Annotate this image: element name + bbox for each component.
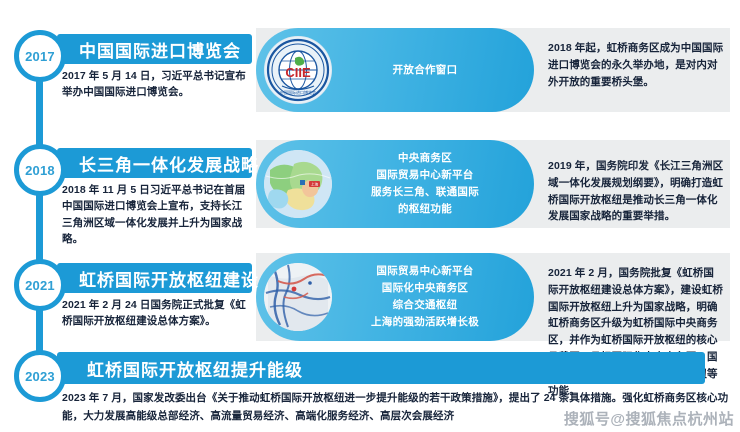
year-label-2021: 2021 xyxy=(25,279,55,292)
year-label-2017: 2017 xyxy=(25,50,55,63)
left-description-2021: 2021 年 2 月 24 日国务院正式批复《虹桥国际开放枢纽建设总体方案》。 xyxy=(62,297,252,330)
highlight-pill-2017: CIIE 中国国际进口博览会 开放合作窗口 xyxy=(256,28,534,112)
left-description-2018: 2018 年 11 月 5 日习近平总书记在首届中国国际进口博览会上宣布，支持长… xyxy=(62,182,252,247)
timeline-row-2018: 上海 中央商务区 国际贸易中心新平台 服务长三角、联通国际 的枢纽功能 2019… xyxy=(0,130,740,234)
svg-text:上海: 上海 xyxy=(311,182,319,187)
header-bar-2017[interactable]: 中国国际进口博览会 xyxy=(57,34,252,64)
header-title-2021: 虹桥国际开放枢纽建设 xyxy=(57,266,273,291)
bottom-description-2023: 2023 年 7 月，国家发改委出台《关于推动虹桥国际开放枢纽进一步提升能级的若… xyxy=(62,390,730,426)
svg-text:中国国际进口博览会: 中国国际进口博览会 xyxy=(280,89,316,95)
pill-label-2017: 开放合作窗口 xyxy=(332,62,534,79)
header-title-2023: 虹桥国际开放枢纽提升能级 xyxy=(57,356,317,381)
pill-label-2018: 中央商务区 国际贸易中心新平台 服务长三角、联通国际 的枢纽功能 xyxy=(332,150,534,217)
infographic-canvas: CIIE 中国国际进口博览会 开放合作窗口 2018 年起，虹桥商务区成为中国国… xyxy=(0,0,740,432)
header-title-2017: 中国国际进口博览会 xyxy=(57,37,255,62)
header-title-2018: 长三角一体化发展战略 xyxy=(57,151,273,176)
header-bar-2018[interactable]: 长三角一体化发展战略 xyxy=(57,148,252,178)
timeline-row-2023: 虹桥国际开放枢纽提升能级 2023 2023 年 7 月，国家发改委出台《关于推… xyxy=(0,350,740,432)
yangtze-delta-map-icon: 上海 xyxy=(264,150,332,218)
ciie-logo-icon: CIIE 中国国际进口博览会 xyxy=(264,36,332,104)
timeline-row-2021: 国际贸易中心新平台 国际化中央商务区 综合交通枢纽 上海的强劲活跃增长极 202… xyxy=(0,245,740,349)
timeline-row-2017: CIIE 中国国际进口博览会 开放合作窗口 2018 年起，虹桥商务区成为中国国… xyxy=(0,16,740,120)
year-bubble-2021[interactable]: 2021 xyxy=(14,259,66,311)
year-bubble-2017[interactable]: 2017 xyxy=(14,30,66,82)
year-bubble-2023[interactable]: 2023 xyxy=(14,350,66,402)
right-description-2018: 2019 年，国务院印发《长江三角洲区域一体化发展规划纲要》，明确打造虹桥国际开… xyxy=(548,158,724,225)
year-label-2023: 2023 xyxy=(25,370,55,383)
highlight-pill-2018: 上海 中央商务区 国际贸易中心新平台 服务长三角、联通国际 的枢纽功能 xyxy=(256,140,534,228)
header-bar-2023[interactable]: 虹桥国际开放枢纽提升能级 xyxy=(57,352,705,384)
highlight-pill-2021: 国际贸易中心新平台 国际化中央商务区 综合交通枢纽 上海的强劲活跃增长极 xyxy=(256,253,534,341)
header-bar-2021[interactable]: 虹桥国际开放枢纽建设 xyxy=(57,263,252,293)
right-description-2017: 2018 年起，虹桥商务区成为中国国际进口博览会的永久举办地，是对内对外开放的重… xyxy=(548,40,724,90)
transport-hub-map-icon xyxy=(264,263,332,331)
year-label-2018: 2018 xyxy=(25,164,55,177)
year-bubble-2018[interactable]: 2018 xyxy=(14,144,66,196)
left-description-2017: 2017 年 5 月 14 日，习近平总书记宣布举办中国国际进口博览会。 xyxy=(62,68,252,101)
pill-label-2021: 国际贸易中心新平台 国际化中央商务区 综合交通枢纽 上海的强劲活跃增长极 xyxy=(332,263,534,330)
svg-text:CIIE: CIIE xyxy=(285,65,311,80)
